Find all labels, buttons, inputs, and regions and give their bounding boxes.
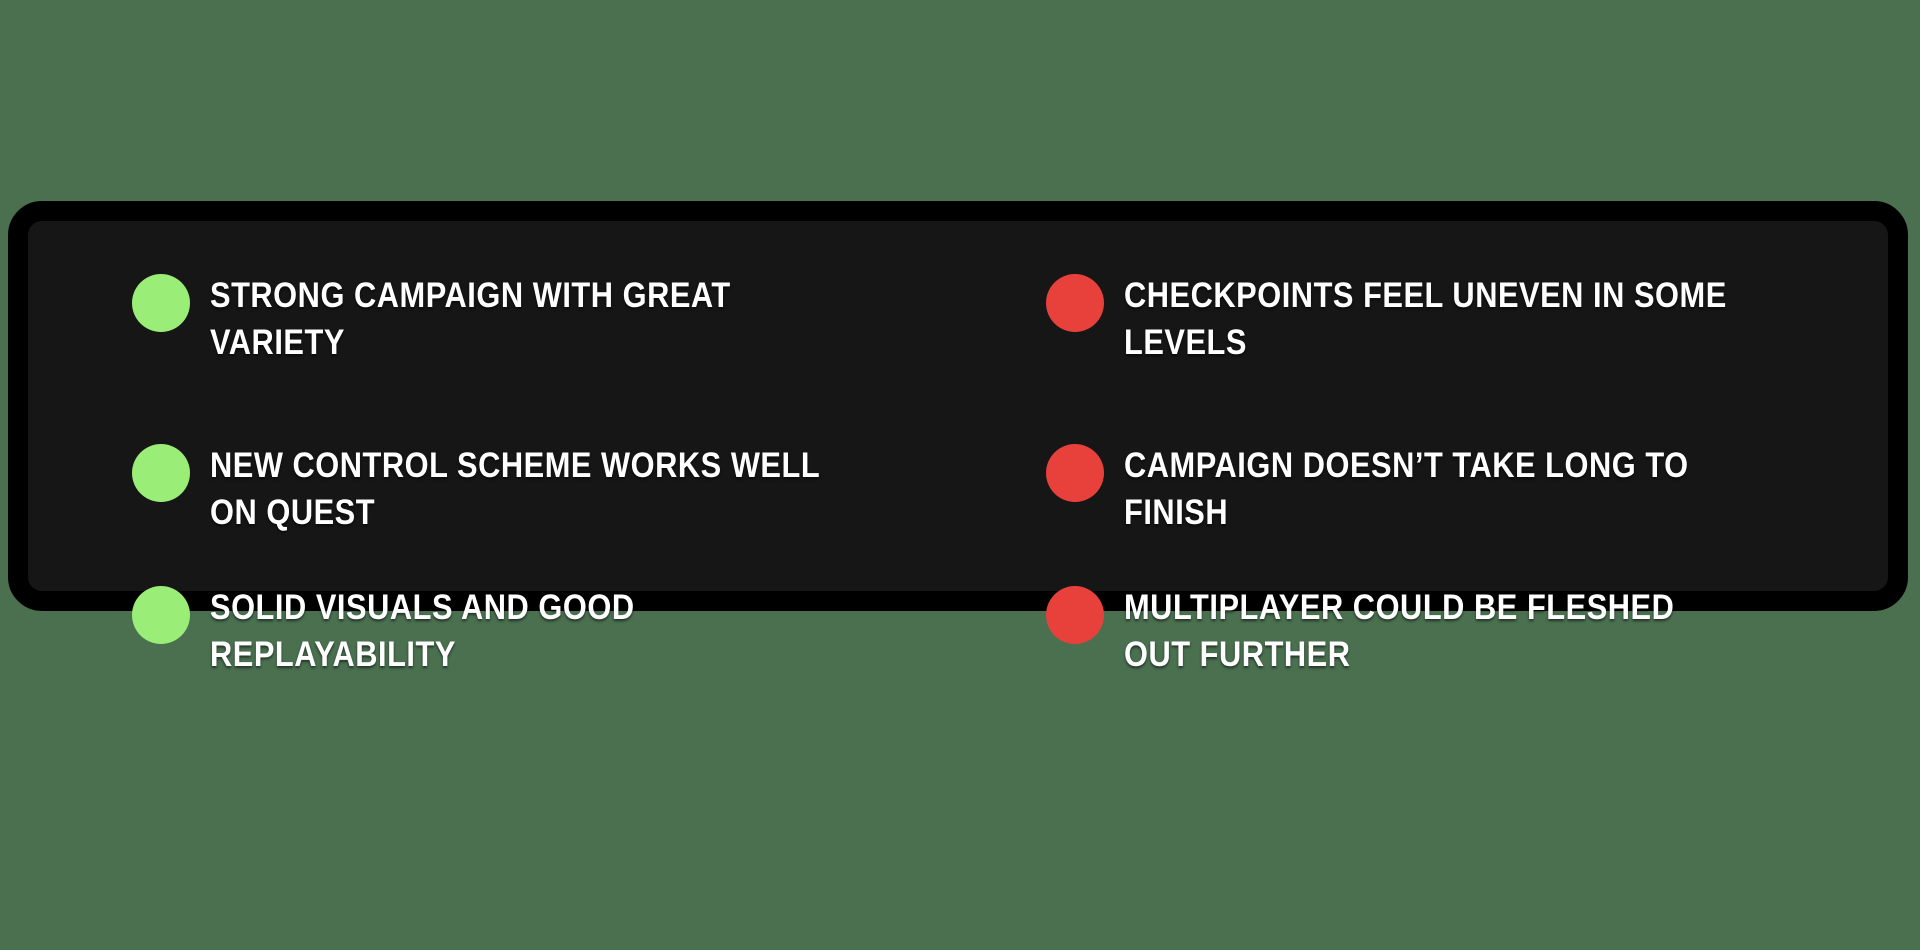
bullet-dot-green-icon bbox=[132, 444, 190, 502]
pro-item-label: NEW CONTROL SCHEME WORKS WELL ON QUEST bbox=[210, 442, 826, 536]
con-list-item: CHECKPOINTS FEEL UNEVEN IN SOME LEVELS bbox=[1046, 272, 1836, 366]
pro-list-item: SOLID VISUALS AND GOOD REPLAYABILITY bbox=[132, 584, 912, 678]
con-item-label: MULTIPLAYER COULD BE FLESHED OUT FURTHER bbox=[1124, 584, 1740, 678]
bullet-dot-red-icon bbox=[1046, 444, 1104, 502]
con-item-label: CHECKPOINTS FEEL UNEVEN IN SOME LEVELS bbox=[1124, 272, 1740, 366]
pros-column: STRONG CAMPAIGN WITH GREAT VARIETY NEW C… bbox=[132, 221, 912, 591]
bullet-dot-green-icon bbox=[132, 274, 190, 332]
bullet-dot-red-icon bbox=[1046, 274, 1104, 332]
pro-list-item: STRONG CAMPAIGN WITH GREAT VARIETY bbox=[132, 272, 912, 366]
bullet-dot-green-icon bbox=[132, 586, 190, 644]
pro-list-item: NEW CONTROL SCHEME WORKS WELL ON QUEST bbox=[132, 442, 912, 536]
pro-item-label: SOLID VISUALS AND GOOD REPLAYABILITY bbox=[210, 584, 826, 678]
page-root: STRONG CAMPAIGN WITH GREAT VARIETY NEW C… bbox=[0, 0, 1920, 950]
con-item-label: CAMPAIGN DOESN’T TAKE LONG TO FINISH bbox=[1124, 442, 1740, 536]
pros-cons-grid: STRONG CAMPAIGN WITH GREAT VARIETY NEW C… bbox=[28, 221, 1888, 591]
pros-and-cons-card: STRONG CAMPAIGN WITH GREAT VARIETY NEW C… bbox=[8, 201, 1908, 611]
cons-column: CHECKPOINTS FEEL UNEVEN IN SOME LEVELS C… bbox=[1046, 221, 1836, 591]
con-list-item: MULTIPLAYER COULD BE FLESHED OUT FURTHER bbox=[1046, 584, 1836, 678]
pro-item-label: STRONG CAMPAIGN WITH GREAT VARIETY bbox=[210, 272, 826, 366]
con-list-item: CAMPAIGN DOESN’T TAKE LONG TO FINISH bbox=[1046, 442, 1836, 536]
bullet-dot-red-icon bbox=[1046, 586, 1104, 644]
